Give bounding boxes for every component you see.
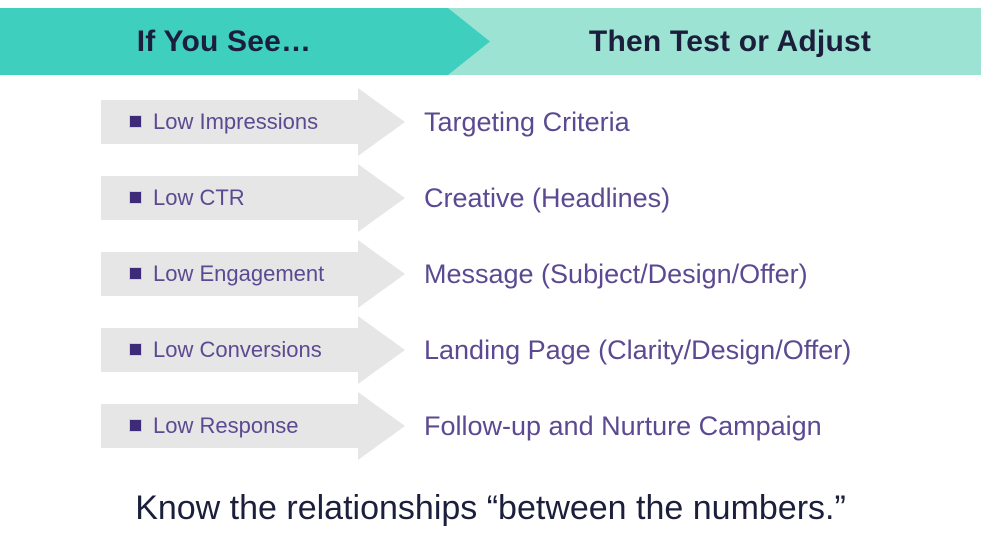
symptom-label: Low Engagement <box>153 240 324 308</box>
diagram-row: Low ConversionsLanding Page (Clarity/Des… <box>0 316 981 384</box>
slide-canvas: If You See… Then Test or Adjust Low Impr… <box>0 0 981 551</box>
symptom-label: Low CTR <box>153 164 245 232</box>
square-bullet-icon <box>129 267 142 280</box>
diagram-row: Low EngagementMessage (Subject/Design/Of… <box>0 240 981 308</box>
action-label: Follow-up and Nurture Campaign <box>424 392 822 460</box>
header-left-label: If You See… <box>0 8 448 75</box>
header-right-label: Then Test or Adjust <box>500 8 960 75</box>
action-label: Creative (Headlines) <box>424 164 670 232</box>
symptom-label: Low Response <box>153 392 299 460</box>
header-banner: If You See… Then Test or Adjust <box>0 8 981 75</box>
action-label: Landing Page (Clarity/Design/Offer) <box>424 316 851 384</box>
square-bullet-icon <box>129 419 142 432</box>
square-bullet-icon <box>129 343 142 356</box>
square-bullet-icon <box>129 191 142 204</box>
symptom-label: Low Conversions <box>153 316 322 384</box>
action-label: Targeting Criteria <box>424 88 630 156</box>
diagram-row: Low ImpressionsTargeting Criteria <box>0 88 981 156</box>
action-label: Message (Subject/Design/Offer) <box>424 240 808 308</box>
footer-caption: Know the relationships “between the numb… <box>0 478 981 538</box>
symptom-label: Low Impressions <box>153 88 318 156</box>
right-arrow-icon <box>101 164 405 232</box>
diagram-row: Low ResponseFollow-up and Nurture Campai… <box>0 392 981 460</box>
diagram-row: Low CTRCreative (Headlines) <box>0 164 981 232</box>
square-bullet-icon <box>129 115 142 128</box>
